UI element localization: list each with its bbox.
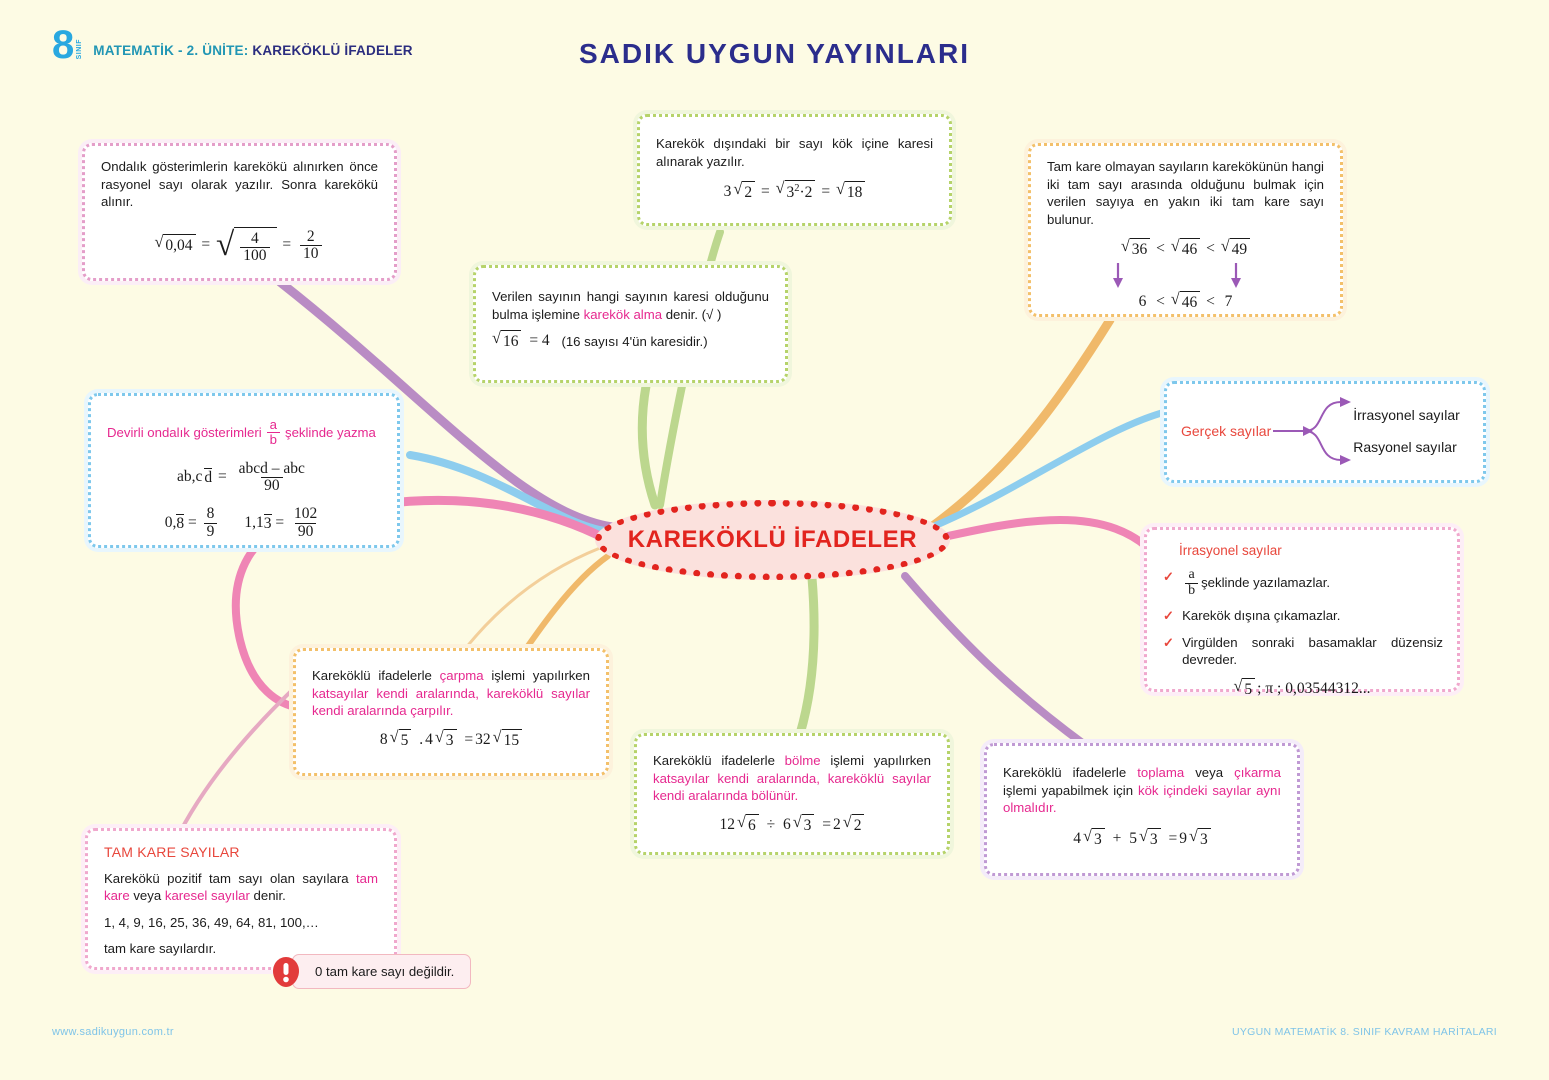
radicand-low: 36 <box>1130 238 1151 261</box>
irrational-title: İrrasyonel sayılar <box>1179 542 1443 560</box>
frac-a: a <box>267 418 280 432</box>
target-irrational: İrrasyonel sayılar <box>1353 406 1460 425</box>
div-text-2: işlemi yapılırken <box>821 753 931 768</box>
coef-a: 8 <box>380 730 388 751</box>
node-perfect-squares: TAM KARE SAYILAR Karekökü pozitif tam sa… <box>85 828 397 970</box>
equals: = <box>464 730 473 751</box>
div-text-1: Kareköklü ifadelerle <box>653 753 785 768</box>
add-highlight-2: çıkarma <box>1234 765 1281 780</box>
rad-b: 3 <box>1148 828 1161 851</box>
equals: = <box>1169 829 1178 850</box>
between-integers-arrows <box>1096 263 1276 289</box>
ex2-den: 90 <box>295 523 317 540</box>
ex1-bar: 8 <box>176 514 184 532</box>
real-numbers-source: Gerçek sayılar <box>1181 422 1271 441</box>
irrational-item-1: ✓ ab şeklinde yazılamazlar. <box>1163 568 1443 598</box>
rad-c: 3 <box>1198 828 1211 851</box>
node-addition-text: Kareköklü ifadelerle toplama veya çıkarm… <box>1003 764 1281 817</box>
rule-left: ab,c <box>177 467 202 488</box>
upper-bound: 7 <box>1225 292 1233 313</box>
node-multiplication-text: Karekök­lü ifadelerle çarpma işlemi yapı… <box>312 667 590 720</box>
footer-series: UYGUN MATEMATİK 8. SINIF KAVRAM HARİTALA… <box>1232 1026 1497 1038</box>
ex1-den: 9 <box>204 523 218 540</box>
node-division: Kareköklü ifadelerle bölme işlemi yapılı… <box>634 733 950 855</box>
node-multiplication: Karekök­lü ifadelerle çarpma işlemi yapı… <box>293 648 609 776</box>
frac-b: b <box>267 432 280 447</box>
coef-c: 9 <box>1179 829 1187 850</box>
node-multiplication-formula: 8 √5 . 4 √3 = 32 √15 <box>312 729 590 752</box>
item-3-text: Virgülden sonraki basamaklar düzensiz de… <box>1182 634 1443 669</box>
check-icon: ✓ <box>1163 607 1174 625</box>
div-highlight-1: bölme <box>785 753 821 768</box>
rad-a: 5 <box>399 729 412 752</box>
node-root-definition: Verilen sayının hangi sayının karesi old… <box>473 265 788 383</box>
node-repeating-decimal: Devirli ondalık gösterimleri ab şeklinde… <box>88 393 400 548</box>
center-topic-node: KAREKÖKLÜ İFADELER <box>595 500 950 580</box>
node-repeating-decimal-examples: 0,8 = 89 1,13 = 10290 <box>107 506 381 540</box>
rad-b: 3 <box>802 814 815 837</box>
branch-arrows <box>1273 394 1351 468</box>
item-2-text: Karekök dışına çıkamazlar. <box>1182 607 1443 625</box>
real-numbers-diagram: Gerçek sayılar İrrasyonel sayılar Rasyon… <box>1167 384 1483 480</box>
mul-highlight-2: katsayılar kendi aralarında, kareköklü s… <box>312 686 590 719</box>
exclamation-icon <box>272 956 300 988</box>
node-root-definition-formula: √16 = 4 (16 sayısı 4'ün karesidir.) <box>492 330 769 353</box>
result: 18 <box>845 181 866 204</box>
mul-text-2: işlemi yapılırken <box>484 668 590 683</box>
item-1-text: şeklinde yazılamazlar. <box>1201 574 1330 592</box>
link-to-root-definition <box>642 386 655 505</box>
perfect-squares-list: 1, 4, 9, 16, 25, 36, 49, 64, 81, 100,… <box>104 914 378 932</box>
ex2-num: 102 <box>291 506 320 522</box>
ps-text-3: denir. <box>250 888 286 903</box>
link-to-real-numbers <box>932 412 1165 527</box>
rule-left-bar: d <box>204 468 212 486</box>
node-between-integers: Tam kare olmayan sayıların karekökünün h… <box>1028 143 1343 317</box>
node-addition-subtraction: Kareköklü ifadelerle toplama veya çıkarm… <box>984 743 1300 876</box>
center-ellipse: KAREKÖKLÜ İFADELER <box>595 500 950 580</box>
result-den: 10 <box>300 245 322 262</box>
node-decimal-root-text: Ondalık gösterimlerin karekökü alınırken… <box>101 158 378 211</box>
coef-b: 4 <box>425 730 433 751</box>
rule-num: abcd – abc <box>236 461 308 477</box>
definition-highlight: karekök alma <box>584 307 662 322</box>
irrational-item-3: ✓ Virgülden sonraki basamaklar düzensiz … <box>1163 634 1443 669</box>
concept-map-page: 8 SINIF MATEMATİK - 2. ÜNİTE: KAREKÖKLÜ … <box>0 0 1549 1080</box>
node-root-definition-text: Verilen sayının hangi sayının karesi old… <box>492 288 769 323</box>
rad-c: 15 <box>502 729 523 752</box>
center-label: KAREKÖKLÜ İFADELER <box>628 526 917 554</box>
node-addition-formula: 4 √3 + 5 √3 = 9 √3 <box>1003 828 1281 851</box>
node-real-numbers: Gerçek sayılar İrrasyonel sayılar Rasyon… <box>1164 381 1486 483</box>
node-repeating-decimal-title: Devirli ondalık gösterimleri ab şeklinde… <box>107 418 381 447</box>
radicand: 0,04 <box>163 234 195 257</box>
title-prefix: Devirli ondalık gösterimleri <box>107 424 262 442</box>
node-inside-root-text: Karekök dışındaki bir sayı kök içine kar… <box>656 135 933 170</box>
node-between-integers-line2: 6 < √46 < 7 <box>1047 291 1324 314</box>
definition-suffix: denir. (√ ) <box>662 307 721 322</box>
warning-callout-text: 0 tam kare sayı değildir. <box>292 954 471 989</box>
publisher-brand: SADIK UYGUN YAYINLARI <box>0 38 1549 70</box>
check-icon: ✓ <box>1163 568 1174 586</box>
node-inside-root-formula: 3 √2 = √ 32·2 = √18 <box>656 180 933 204</box>
irrational-item-2: ✓ Karekök dışına çıkamazlar. <box>1163 607 1443 625</box>
frac-den: 100 <box>240 247 269 264</box>
node-decimal-root-formula: √0,04 = √ 4100 = 210 <box>101 227 378 265</box>
node-division-formula: 12 √6 ÷ 6 √3 = 2 √2 <box>653 814 931 837</box>
multiplier: ·2 <box>800 184 813 201</box>
rad-a: 3 <box>1092 828 1105 851</box>
link-to-irrational <box>930 520 1160 560</box>
result: = 4 <box>529 331 549 352</box>
warning-callout: 0 tam kare sayı değildir. <box>272 954 471 989</box>
mul-highlight-1: çarpma <box>440 668 484 683</box>
rule-den: 90 <box>261 477 283 494</box>
ps-text-1: Karekökü pozitif tam sayı olan sayılara <box>104 871 356 886</box>
ps-text-2: veya <box>130 888 165 903</box>
node-repeating-decimal-rule: ab,cd = abcd – abc90 <box>107 461 381 495</box>
ex1-num: 8 <box>204 506 218 522</box>
node-inside-root: Karekök dışındaki bir sayı kök içine kar… <box>637 114 952 226</box>
ex1-left: 0, <box>165 513 177 534</box>
radicand-mid: 46 <box>1180 238 1201 261</box>
operator: + <box>1113 829 1122 850</box>
coef-c: 2 <box>833 815 841 836</box>
add-text-1: Kareköklü ifadelerle <box>1003 765 1137 780</box>
irrational-examples: √5 ; π ; 0,03544312... <box>1161 678 1443 701</box>
node-between-integers-text: Tam kare olmayan sayıların karekökünün h… <box>1047 158 1324 228</box>
coef-b: 5 <box>1129 829 1137 850</box>
node-irrational-numbers: İrrasyonel sayılar ✓ ab şeklinde yazılam… <box>1144 527 1460 692</box>
coef-c: 32 <box>475 730 491 751</box>
target-rational: Rasyonel sayılar <box>1353 438 1460 457</box>
node-between-integers-line1: √36 < √46 < √49 <box>1047 238 1324 261</box>
add-text-3: işlemi yapabilmek için <box>1003 783 1138 798</box>
node-decimal-root: Ondalık gösterimlerin karekökü alınırken… <box>82 143 397 281</box>
example-rest: ; π ; 0,03544312... <box>1257 679 1370 700</box>
add-highlight-1: toplama <box>1137 765 1184 780</box>
link-to-repeating-decimal <box>410 455 612 532</box>
coef-a: 12 <box>720 815 736 836</box>
perfect-squares-definition: Karekökü pozitif tam sayı olan sayılara … <box>104 870 378 905</box>
coef-b: 6 <box>783 815 791 836</box>
rad-c: 2 <box>852 814 865 837</box>
result-num: 2 <box>304 229 318 245</box>
link-to-multiplication-tail <box>236 520 300 708</box>
link-to-addition <box>905 576 1085 745</box>
radicand: 2 <box>742 181 755 204</box>
rad-b: 3 <box>444 729 457 752</box>
ex2-bar: 3 <box>264 514 272 532</box>
link-to-between-integers-b <box>930 320 1110 528</box>
operator: . <box>419 730 423 751</box>
radicand-high: 49 <box>1230 238 1251 261</box>
lower-bound: 6 <box>1139 292 1147 313</box>
coefficient: 3 <box>724 182 732 203</box>
add-text-2: veya <box>1184 765 1234 780</box>
radicand-mid-2: 46 <box>1180 291 1201 314</box>
coef-a: 4 <box>1073 829 1081 850</box>
link-to-division <box>800 578 814 734</box>
real-numbers-targets: İrrasyonel sayılar Rasyonel sayılar <box>1353 406 1460 456</box>
radicand: 16 <box>501 330 522 353</box>
ps-highlight-2: karesel sayılar <box>165 888 250 903</box>
ex2-left: 1,1 <box>244 513 263 534</box>
footer-website[interactable]: www.sadikuygun.com.tr <box>52 1026 174 1038</box>
frac-num: 4 <box>248 231 262 247</box>
operator: ÷ <box>767 815 776 836</box>
rad-a: 6 <box>746 814 759 837</box>
mul-text-1: Karekök­lü ifadelerle <box>312 668 440 683</box>
check-icon: ✓ <box>1163 634 1174 652</box>
equals: = <box>822 815 831 836</box>
div-highlight-2: katsayılar kendi aralarında, kareköklü s… <box>653 771 931 804</box>
example-radicand: 5 <box>1242 678 1255 701</box>
frac-a: a <box>1185 568 1197 583</box>
perfect-squares-title: TAM KARE SAYILAR <box>104 843 378 862</box>
formula-note: (16 sayısı 4'ün karesidir.) <box>561 333 707 351</box>
node-division-text: Kareköklü ifadelerle bölme işlemi yapılı… <box>653 752 931 805</box>
frac-b: b <box>1185 583 1198 599</box>
title-suffix: şeklinde yazma <box>285 424 376 442</box>
